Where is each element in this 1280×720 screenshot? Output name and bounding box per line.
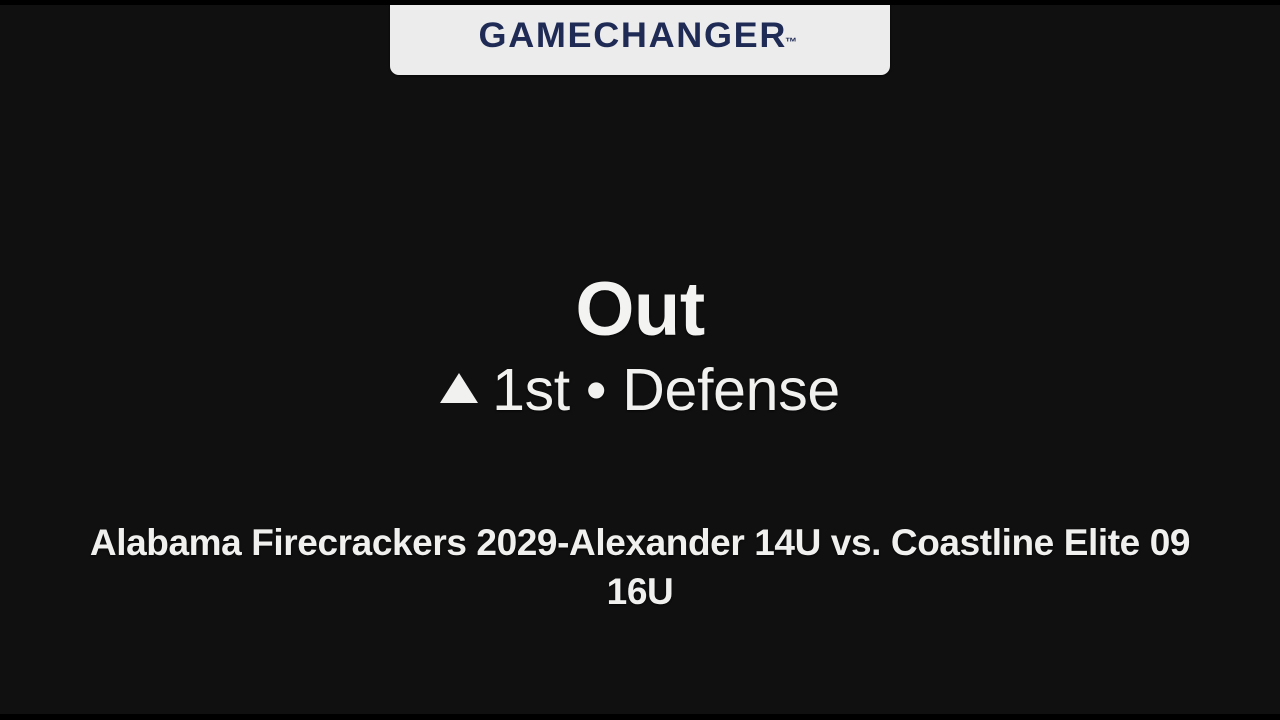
matchup-title: Alabama Firecrackers 2029-Alexander 14U … — [85, 518, 1195, 616]
gamechanger-logo-text: GAMECHANGER — [478, 18, 787, 53]
side-label: Defense — [622, 360, 840, 422]
play-result-text: Out — [0, 272, 1280, 348]
trademark-icon: ™ — [785, 36, 797, 48]
letterbox-bottom — [0, 714, 1280, 720]
broadcast-overlay-stage: GAMECHANGER ™ Out 1st • Defense Alabama … — [0, 0, 1280, 720]
play-result-block: Out 1st • Defense — [0, 272, 1280, 422]
gamechanger-logo-badge: GAMECHANGER ™ — [390, 0, 890, 75]
letterbox-top — [0, 0, 1280, 5]
context-separator: • — [586, 360, 606, 422]
inning-label: 1st — [492, 360, 570, 422]
gamechanger-wordmark: GAMECHANGER ™ — [483, 18, 798, 53]
triangle-up-icon — [440, 373, 478, 403]
play-context-line: 1st • Defense — [0, 360, 1280, 422]
